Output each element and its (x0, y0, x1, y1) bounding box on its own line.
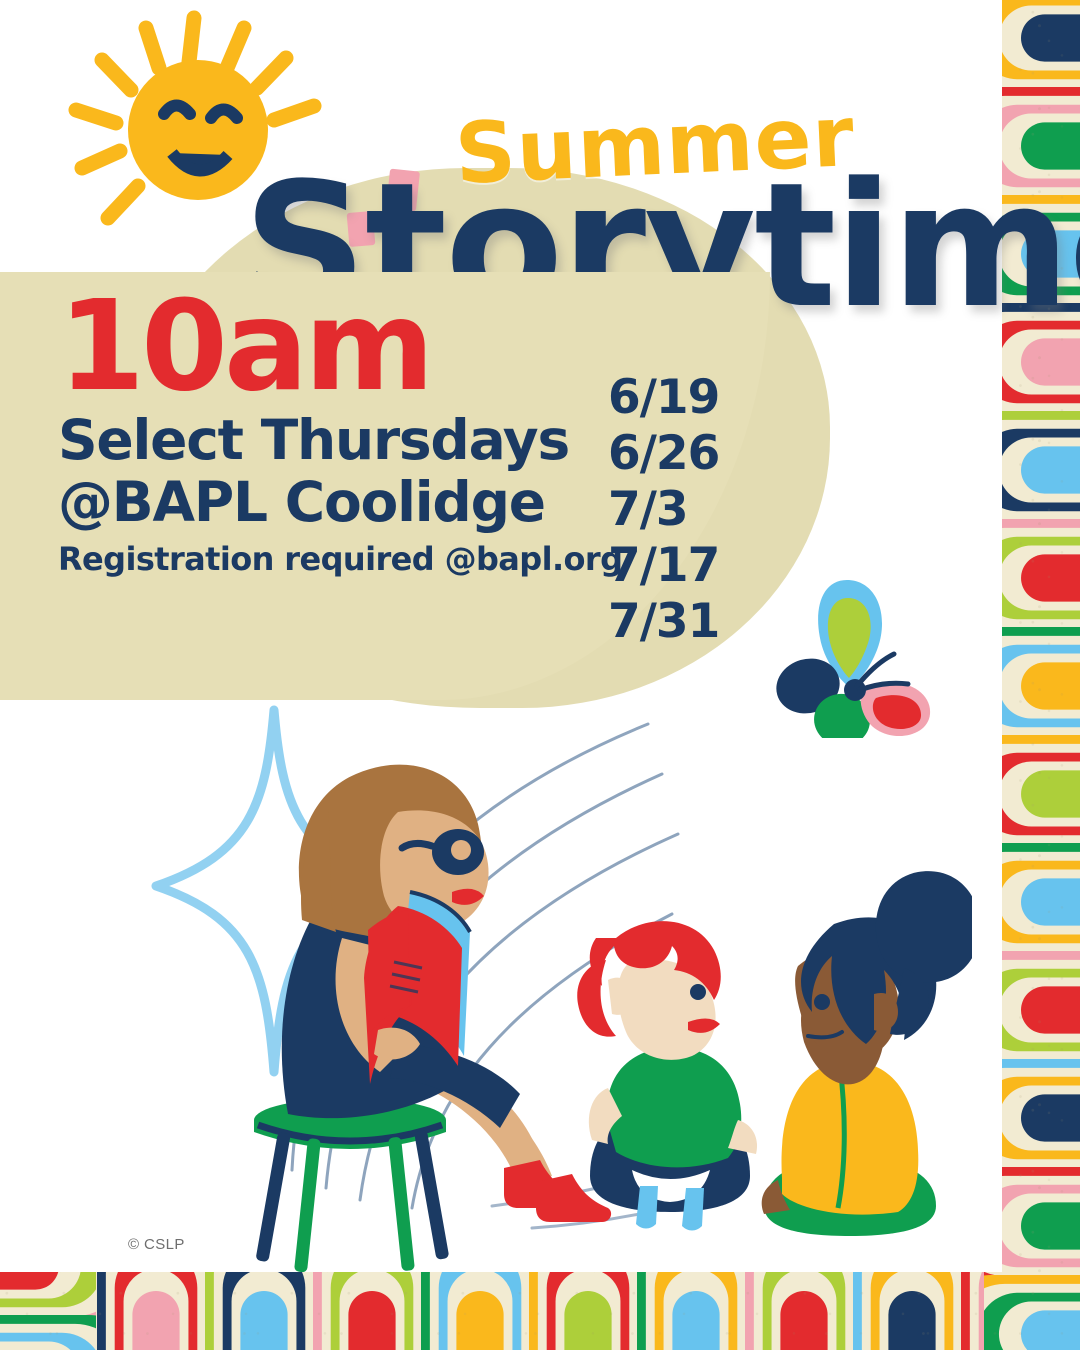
poster-root: Summer Storytime 10am Select Thursdays @… (0, 0, 1080, 1350)
figure-child-bun-hair (762, 871, 972, 1236)
storytime-illustration (92, 700, 972, 1272)
cslp-credit: © CSLP (128, 1236, 185, 1253)
event-dates-list: 6/19 6/26 7/3 7/17 7/31 (608, 374, 719, 645)
event-time: 10am (58, 284, 431, 409)
date-item: 6/19 (608, 374, 719, 421)
figure-storyteller (254, 765, 611, 1272)
butterfly-icon (772, 568, 932, 738)
date-item: 6/26 (608, 430, 719, 477)
date-item: 7/31 (608, 598, 719, 645)
date-item: 7/3 (608, 486, 719, 533)
date-item: 7/17 (608, 542, 719, 589)
figure-child-red-hair (577, 921, 757, 1230)
stool (254, 1098, 449, 1272)
